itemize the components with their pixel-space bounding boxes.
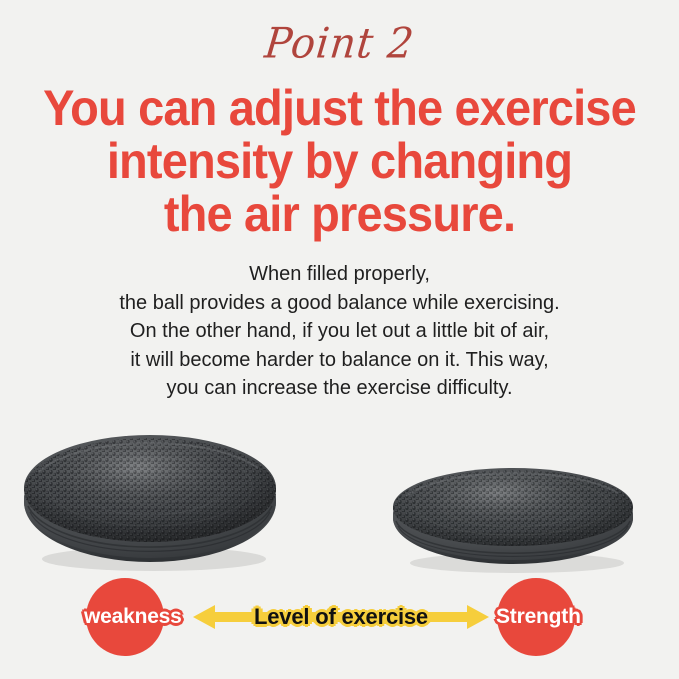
body-line-4: it will become harder to balance on it. … [0, 346, 679, 375]
deflated-balance-disc-image [384, 464, 642, 580]
weakness-label: weakness [84, 604, 182, 630]
body-line-3: On the other hand, if you let out a litt… [0, 317, 679, 346]
level-of-exercise-caption: Level of exercise [193, 595, 489, 639]
body-line-2: the ball provides a good balance while e… [0, 289, 679, 318]
inflated-balance-disc-image [14, 428, 286, 578]
headline-line-1: You can adjust the exercise [20, 82, 658, 135]
level-of-exercise-arrow: Level of exercise [193, 595, 489, 639]
body-line-5: you can increase the exercise difficulty… [0, 374, 679, 403]
body-paragraph: When filled properly, the ball provides … [0, 260, 679, 403]
product-comparison-images [0, 420, 679, 580]
eyebrow-point-label: Point 2 [0, 23, 679, 65]
headline-line-3: the air pressure. [20, 188, 658, 241]
page-title: You can adjust the exercise intensity by… [20, 82, 658, 241]
body-line-1: When filled properly, [0, 260, 679, 289]
headline-line-2: intensity by changing [20, 135, 658, 188]
intensity-scale: weakness Strength Level of exercise [0, 578, 679, 658]
infographic-page: Point 2 You can adjust the exercise inte… [0, 0, 679, 679]
strength-label: Strength [496, 604, 581, 630]
